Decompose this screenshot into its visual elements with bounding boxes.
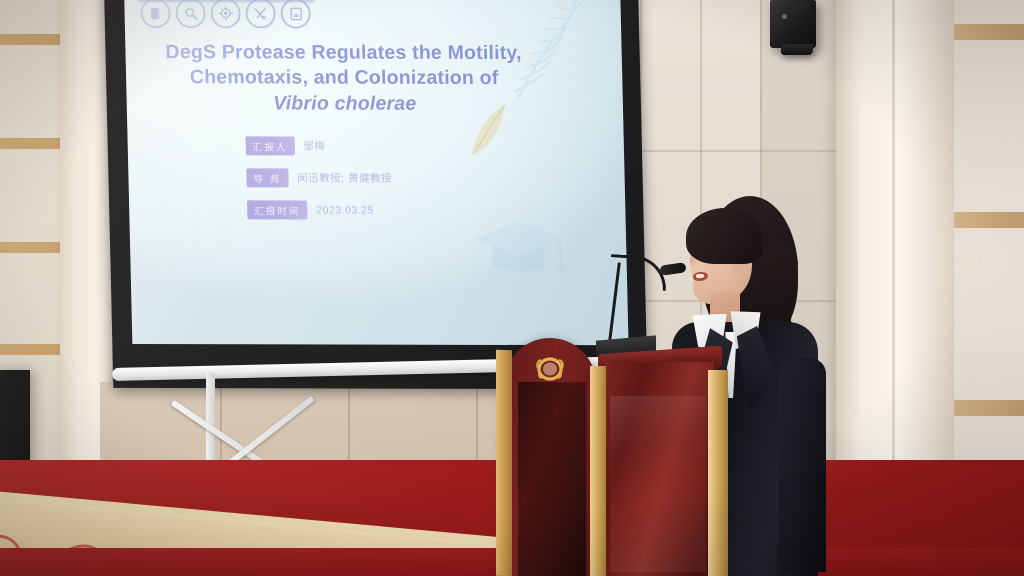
screen-glare xyxy=(124,0,629,345)
podium-gold-trim-right xyxy=(708,370,728,576)
podium-gold-trim-left xyxy=(496,350,512,576)
projection-screen: DegS Protease Regulates the Motility, Ch… xyxy=(104,0,648,389)
right-arm xyxy=(778,358,826,572)
screen-surface: DegS Protease Regulates the Motility, Ch… xyxy=(124,0,629,345)
podium-panel-inset xyxy=(518,382,586,576)
conference-room-scene: DegS Protease Regulates the Motility, Ch… xyxy=(0,0,1024,576)
podium-gloss-reflection xyxy=(610,396,706,572)
podium-back-panel xyxy=(504,338,596,576)
podium-gold-trim-middle xyxy=(590,366,606,576)
wall-speaker-lip xyxy=(780,44,813,55)
mouth-highlight xyxy=(696,274,704,279)
speaker-screw xyxy=(782,14,787,19)
podium-gold-emblem xyxy=(535,356,565,382)
wall-speaker xyxy=(770,0,816,48)
hair-front xyxy=(686,208,762,264)
podium xyxy=(498,336,746,576)
